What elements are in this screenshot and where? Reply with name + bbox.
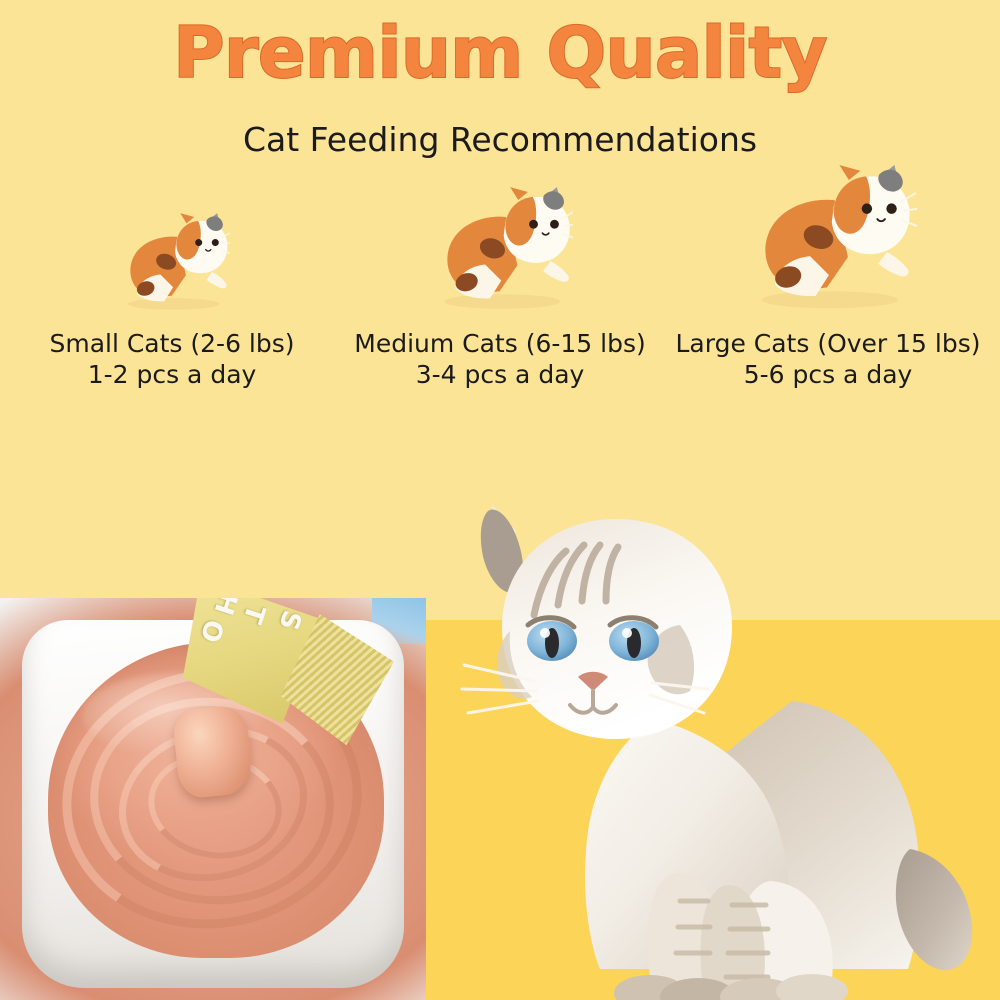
feeding-title-large: Large Cats (Over 15 lbs) <box>675 329 980 360</box>
feeding-label-small: Small Cats (2-6 lbs) 1-2 pcs a day <box>49 329 294 390</box>
feeding-label-medium: Medium Cats (6-15 lbs) 3-4 pcs a day <box>354 329 646 390</box>
feeding-amount-medium: 3-4 pcs a day <box>354 360 646 391</box>
feeding-amount-small: 1-2 pcs a day <box>49 360 294 391</box>
page-title: Premium Quality <box>0 18 1000 89</box>
sitting-cat-photo <box>440 505 1000 1000</box>
cat-food-bowl-photo: H O T S <box>0 598 426 1000</box>
feeding-column-large: Large Cats (Over 15 lbs) 5-6 pcs a day <box>668 165 988 390</box>
feeding-title-medium: Medium Cats (6-15 lbs) <box>354 329 646 360</box>
feeding-label-large: Large Cats (Over 15 lbs) 5-6 pcs a day <box>675 329 980 390</box>
sitting-cat-illustration <box>440 505 1000 1000</box>
cat-lying-small-icon <box>115 213 230 313</box>
page-subtitle: Cat Feeding Recommendations <box>0 120 1000 159</box>
feeding-amount-large: 5-6 pcs a day <box>675 360 980 391</box>
feeding-column-medium: Medium Cats (6-15 lbs) 3-4 pcs a day <box>340 165 660 390</box>
feeding-column-small: Small Cats (2-6 lbs) 1-2 pcs a day <box>12 165 332 390</box>
cat-lying-large-icon <box>739 165 917 313</box>
poster-root: Premium Quality Cat Feeding Recommendati… <box>0 0 1000 1000</box>
cat-lying-medium-icon <box>428 187 573 313</box>
feeding-title-small: Small Cats (2-6 lbs) <box>49 329 294 360</box>
feeding-recommendations-row: Small Cats (2-6 lbs) 1-2 pcs a day <box>0 165 1000 390</box>
